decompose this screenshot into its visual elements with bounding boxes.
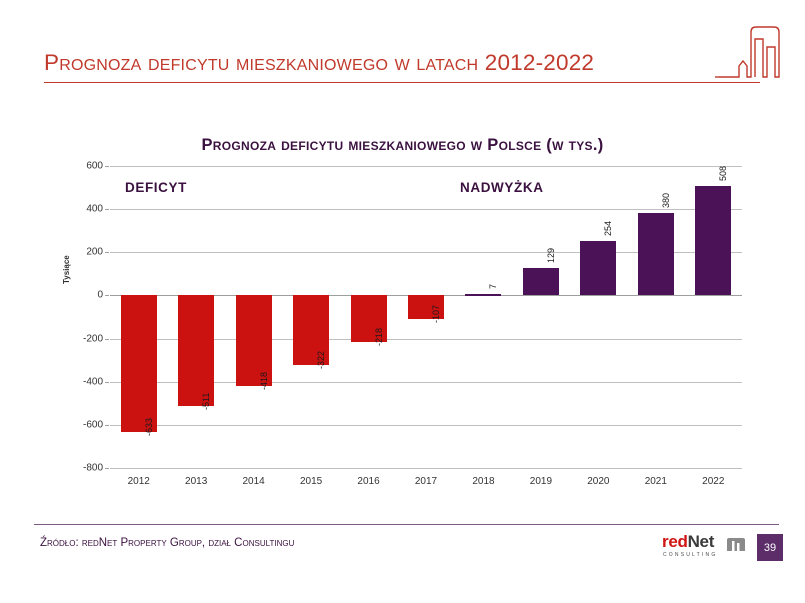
bar-2019: [523, 268, 559, 296]
x-axis-tick-label: 2020: [587, 476, 609, 487]
y-axis-tick-label: -200: [83, 333, 103, 344]
y-axis-tick-label: 200: [86, 247, 103, 258]
x-axis-tick-label: 2012: [128, 476, 150, 487]
bar-value-label: 380: [661, 193, 671, 208]
chart-title: Prognoza deficytu mieszkaniowego w Polsc…: [0, 136, 805, 155]
bar-value-label: 508: [718, 166, 728, 181]
bar-2022: [695, 186, 731, 296]
x-axis-tick-label: 2016: [357, 476, 379, 487]
x-axis-tick-label: 2018: [472, 476, 494, 487]
rednet-logo-subtitle: CONSULTING: [663, 552, 717, 558]
bar-value-label: 7: [488, 284, 498, 289]
y-axis-tick-mark: [105, 209, 109, 210]
x-axis-tick-label: 2013: [185, 476, 207, 487]
bar-value-label: -322: [316, 351, 326, 369]
bar-2013: [178, 295, 214, 405]
bar-value-label: 254: [603, 221, 613, 236]
x-axis-tick-label: 2015: [300, 476, 322, 487]
y-axis-tick-mark: [105, 166, 109, 167]
rednet-wordmark: redNet: [662, 533, 714, 551]
y-axis-tick-label: -600: [83, 419, 103, 430]
bar-2021: [638, 213, 674, 295]
page-number-badge: 39: [757, 534, 783, 561]
x-axis-tick-label: 2022: [702, 476, 724, 487]
header-divider: [44, 82, 760, 83]
gridline: -800: [110, 468, 742, 469]
bar-value-label: -107: [431, 304, 441, 322]
y-axis-tick-mark: [105, 382, 109, 383]
x-axis-tick-label: 2017: [415, 476, 437, 487]
slide-header: Prognoza deficytu mieszkaniowego w latac…: [0, 0, 805, 100]
slide-footer: Źródło: redNet Property Group, dział Con…: [0, 524, 805, 603]
rednet-logo-net: Net: [688, 532, 715, 551]
y-axis-tick-label: 0: [97, 290, 103, 301]
bar-value-label: -511: [201, 392, 211, 409]
y-axis-tick-mark: [105, 425, 109, 426]
x-axis-tick-label: 2021: [645, 476, 667, 487]
y-axis-tick-mark: [105, 252, 109, 253]
y-axis-title: Tysiące: [62, 270, 71, 284]
y-axis-tick-label: 600: [86, 161, 103, 172]
page-title: Prognoza deficytu mieszkaniowego w latac…: [44, 52, 594, 75]
x-axis-tick-label: 2019: [530, 476, 552, 487]
y-axis-tick-mark: [105, 295, 109, 296]
y-axis-tick-label: 400: [86, 204, 103, 215]
gridline: -600: [110, 425, 742, 426]
building-icon: [726, 534, 746, 552]
chart-panel: Prognoza deficytu mieszkaniowego w Polsc…: [0, 108, 805, 520]
bar-2020: [580, 241, 616, 296]
y-axis-tick-mark: [105, 339, 109, 340]
bar-value-label: 129: [546, 248, 556, 263]
plot-area: 6004002000-200-400-600-800-6332012-51120…: [110, 166, 742, 468]
x-axis-tick-label: 2014: [243, 476, 265, 487]
bar-value-label: -633: [144, 418, 154, 436]
building-outline-icon: [715, 22, 783, 80]
bar-value-label: -218: [374, 328, 384, 346]
bar-2018: [465, 294, 501, 296]
rednet-logo: redNet CONSULTING: [662, 533, 754, 565]
source-note: Źródło: redNet Property Group, dział Con…: [40, 537, 294, 549]
bar-value-label: -418: [259, 372, 269, 390]
footer-divider: [34, 524, 779, 525]
y-axis-tick-mark: [105, 468, 109, 469]
rednet-logo-red: red: [662, 532, 688, 551]
gridline: 600: [110, 166, 742, 167]
y-axis-tick-label: -800: [83, 463, 103, 474]
y-axis-tick-label: -400: [83, 376, 103, 387]
bar-2012: [121, 295, 157, 432]
gridline: 400: [110, 209, 742, 210]
